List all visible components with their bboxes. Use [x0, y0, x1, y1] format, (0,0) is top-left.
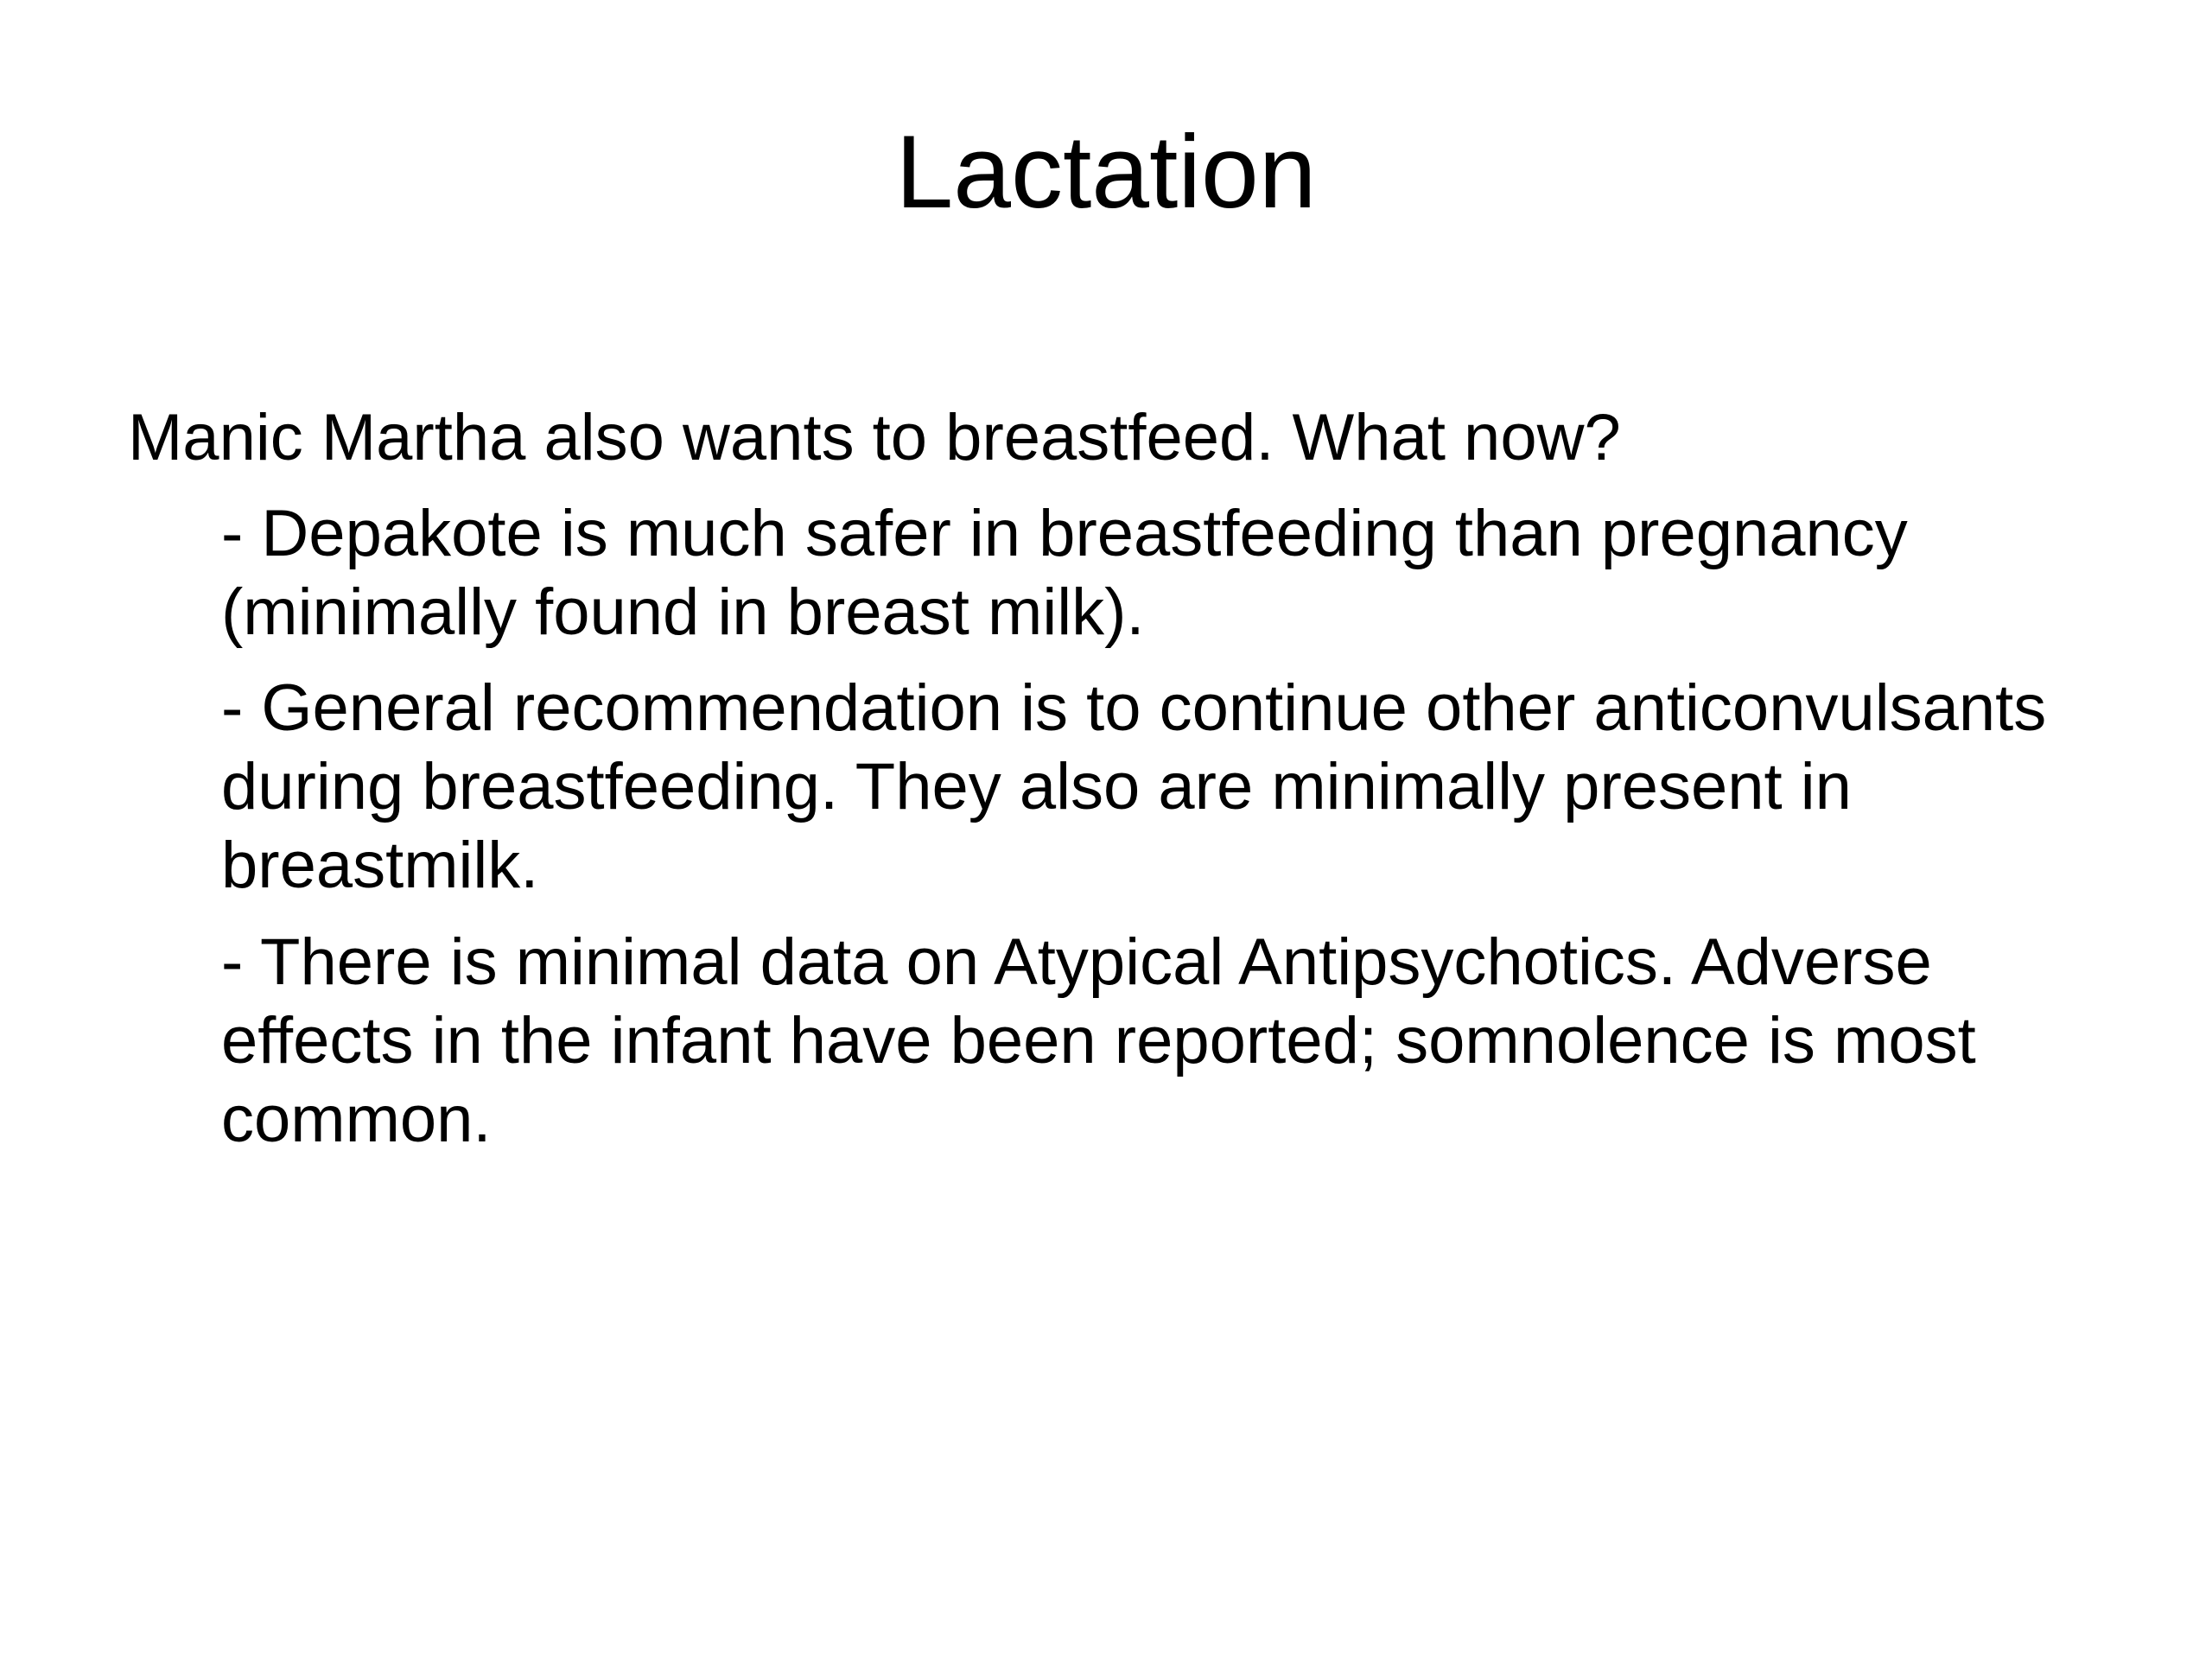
slide: Lactation Manic Martha also wants to bre…: [0, 0, 2212, 1659]
body-paragraph-intro: Manic Martha also wants to breastfeed. W…: [128, 399, 2115, 477]
body-paragraph-general-recommendation: - General recommendation is to continue …: [128, 669, 2115, 906]
body-paragraph-depakote: - Depakote is much safer in breastfeedin…: [128, 494, 2115, 652]
body-paragraph-atypical-antipsychotics: - There is minimal data on Atypical Anti…: [128, 923, 2115, 1160]
slide-body: Manic Martha also wants to breastfeed. W…: [128, 399, 2115, 1159]
page-title: Lactation: [0, 112, 2212, 232]
